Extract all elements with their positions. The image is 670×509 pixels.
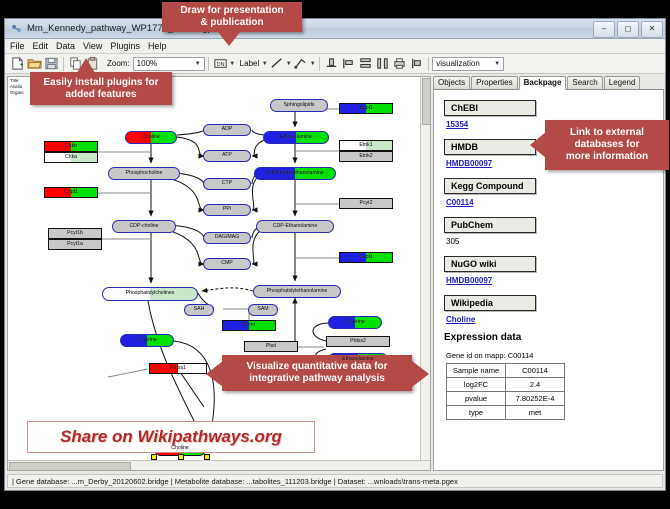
scroll-thumb[interactable] xyxy=(422,78,431,125)
metabolite-node-l-serine-left[interactable]: L-Serine xyxy=(120,334,174,347)
metabolite-node-sphingolipids[interactable]: Sphingolipids xyxy=(270,99,328,112)
gene-node-etnk1[interactable]: Etnk1 xyxy=(339,140,393,151)
datanode-dropdown-icon[interactable]: ▼ xyxy=(229,57,236,71)
gene-node-pcyt2[interactable]: Pcyt2 xyxy=(339,198,393,209)
table-row: pvalue 7.80252E-4 xyxy=(447,392,565,406)
stack-vertical-icon[interactable] xyxy=(358,56,373,71)
pathway-drawing[interactable]: Title: Availa Organi xyxy=(8,77,430,470)
metabolite-node-l-serine-right[interactable]: L-Serine xyxy=(328,316,382,329)
window-controls[interactable]: – ◻ ✕ xyxy=(593,21,663,38)
node-label: CDP-Ethanolamine xyxy=(273,224,317,229)
label-tool-text: Label xyxy=(240,59,260,68)
node-label: Sphingolipids xyxy=(284,103,315,108)
node-label: DAG/MAG xyxy=(215,235,240,240)
menu-bar[interactable]: File Edit Data View Plugins Help xyxy=(5,39,665,54)
visualize-callout-arrow-left xyxy=(206,361,223,387)
node-label: CDP-choline xyxy=(129,224,158,229)
status-bar: | Gene database: ...m_Derby_20120602.bri… xyxy=(7,474,663,488)
chevron-down-icon[interactable]: ▼ xyxy=(491,61,503,67)
gene-node-pcyt1a[interactable]: Pcyt1a xyxy=(48,239,102,250)
db-header-kegg: Kegg Compound xyxy=(444,178,536,194)
scroll-thumb[interactable] xyxy=(9,462,131,471)
node-label: CTP xyxy=(222,181,232,186)
node-label: PPi xyxy=(223,207,231,212)
node-label: Cept1 xyxy=(359,255,373,260)
gene-node-ptdss1[interactable]: Ptdss1 xyxy=(149,363,207,374)
node-label: Choline xyxy=(171,446,189,451)
node-label: L-Serine xyxy=(345,320,365,325)
db-value-pubchem: 305 xyxy=(446,237,663,246)
node-label: SAH xyxy=(194,307,205,312)
save-icon[interactable] xyxy=(44,56,59,71)
menu-item-edit[interactable]: Edit xyxy=(33,41,49,51)
print-icon[interactable] xyxy=(392,56,407,71)
table-row: log2FC 2.4 xyxy=(447,378,565,392)
table-row: type met xyxy=(447,406,565,420)
links-callout-stem xyxy=(544,138,550,152)
visualize-callout: Visualize quantitative data forintegrati… xyxy=(222,355,412,391)
expr-value-type: met xyxy=(506,406,565,420)
menu-item-file[interactable]: File xyxy=(10,41,25,51)
gene-node-etnk2[interactable]: Etnk2 xyxy=(339,151,393,162)
gene-node-pcyt1b[interactable]: Pcyt1b xyxy=(48,228,102,239)
share-banner-text: Share on Wikipathways.org xyxy=(60,427,282,447)
metabolite-node-ctp[interactable]: CTP xyxy=(203,178,251,190)
db-header-nugo: NuGO wiki xyxy=(444,256,536,272)
zoom-combo[interactable]: 100% ▼ xyxy=(133,57,205,71)
metabolite-node-ethanolamine[interactable]: Ethanolamine xyxy=(263,131,329,144)
expr-label-sample: Sample name xyxy=(447,364,506,378)
node-label: L-Serine xyxy=(137,338,157,343)
canvas-horizontal-scrollbar[interactable] xyxy=(8,460,430,470)
gene-node-pisd[interactable]: Pisd xyxy=(244,341,298,352)
expression-table: Sample name C00114 log2FC 2.4 pvalue 7.8… xyxy=(446,363,565,420)
node-label: Pcyt2 xyxy=(360,201,373,206)
tab-objects[interactable]: Objects xyxy=(433,76,470,89)
datanode-tool[interactable]: DN xyxy=(213,56,228,71)
line-dropdown-icon[interactable]: ▼ xyxy=(285,57,292,71)
screenshot-root: Mm_Kennedy_pathway_WP1771_45176.gpml – ◻… xyxy=(0,0,670,509)
expression-gene-id: Gene id on mapp: C00114 xyxy=(446,351,663,360)
db-header-hmdb: HMDB xyxy=(444,139,536,155)
menu-item-help[interactable]: Help xyxy=(148,41,167,51)
node-label: Chka xyxy=(65,155,77,160)
interaction-dropdown-icon[interactable]: ▼ xyxy=(309,57,316,71)
db-link-wikipedia[interactable]: Choline xyxy=(446,315,663,324)
chevron-down-icon[interactable]: ▼ xyxy=(192,61,204,67)
metabolite-node-phosphatidylcholines[interactable]: Phosphatidylcholines xyxy=(102,287,198,301)
tab-search[interactable]: Search xyxy=(567,76,602,89)
expr-label-pvalue: pvalue xyxy=(447,392,506,406)
metabolite-node-o-phosphoethanolamine[interactable]: O-Phosphoethanolamine xyxy=(254,167,336,180)
tab-properties[interactable]: Properties xyxy=(471,76,517,89)
metabolite-node-sah[interactable]: SAH xyxy=(184,304,214,316)
visualize-callout-text: Visualize quantitative data forintegrati… xyxy=(247,361,388,385)
db-header-pubchem: PubChem xyxy=(444,217,536,233)
metabolite-node-sam[interactable]: SAM xyxy=(248,304,278,316)
gene-node-ptdss2[interactable]: Ptdss2 xyxy=(326,336,390,347)
close-button[interactable]: ✕ xyxy=(641,21,663,38)
tool-bar[interactable]: Zoom: 100% ▼ DN ▼ Label ▼ ▼ ▼ xyxy=(5,54,665,74)
menu-item-plugins[interactable]: Plugins xyxy=(110,41,140,51)
status-text: | Gene database: ...m_Derby_20120602.bri… xyxy=(12,477,458,486)
visualization-value: visualization xyxy=(436,59,491,68)
expr-value-sample: C00114 xyxy=(506,364,565,378)
visualization-combo[interactable]: visualization ▼ xyxy=(432,57,504,71)
node-label: Ptdss1 xyxy=(170,366,186,371)
interaction-tool[interactable] xyxy=(293,56,308,71)
minimize-button[interactable]: – xyxy=(593,21,615,38)
metabolite-node-phosphatidylethanolamine[interactable]: Phosphatidylethanolamine xyxy=(253,285,341,298)
gene-node-chpt1[interactable]: Chpt1 xyxy=(44,187,98,198)
window-title-bar: Mm_Kennedy_pathway_WP1771_45176.gpml – ◻… xyxy=(5,19,665,39)
node-label: SAM xyxy=(257,307,268,312)
metabolite-node-dagmag[interactable]: DAG/MAG xyxy=(203,232,251,244)
pathvisio-icon xyxy=(10,22,23,35)
align-left-icon[interactable] xyxy=(341,56,356,71)
node-label: O-Phosphoethanolamine xyxy=(266,171,323,176)
metabolite-node-cdp-choline[interactable]: CDP-choline xyxy=(112,220,176,233)
metabolite-node-atp[interactable]: ATP xyxy=(203,150,251,162)
node-label: Pemt xyxy=(243,323,255,328)
distribute-icon[interactable] xyxy=(375,56,390,71)
tab-backpage[interactable]: Backpage xyxy=(519,76,567,90)
expr-value-log2fc: 2.4 xyxy=(506,378,565,392)
label-dropdown-icon[interactable]: ▼ xyxy=(261,57,268,71)
draw-callout-arrow xyxy=(218,32,240,46)
node-label: Chpt1 xyxy=(64,190,78,195)
line-tool[interactable] xyxy=(269,56,284,71)
draw-callout: Draw for presentation& publication xyxy=(162,2,302,32)
node-label: Phosphatidylcholines xyxy=(126,291,175,296)
expression-data-heading: Expression data xyxy=(444,332,663,343)
menu-item-data[interactable]: Data xyxy=(56,41,75,51)
align-top-icon[interactable] xyxy=(324,56,339,71)
group-icon[interactable] xyxy=(409,56,424,71)
expr-value-pvalue: 7.80252E-4 xyxy=(506,392,565,406)
links-callout-text: Link to externaldatabases formore inform… xyxy=(566,127,648,163)
draw-callout-text: Draw for presentation& publication xyxy=(180,5,283,29)
svg-text:DN: DN xyxy=(216,62,224,68)
metabolite-node-phosphocholine[interactable]: Phosphocholine xyxy=(108,167,180,180)
visualize-callout-arrow-right xyxy=(412,361,429,387)
db-header-chebi: ChEBI xyxy=(444,100,536,116)
node-label: Ethanolamine xyxy=(280,135,312,140)
node-label: Ptdss2 xyxy=(350,339,366,344)
db-link-kegg[interactable]: C00114 xyxy=(446,198,663,207)
open-folder-icon[interactable] xyxy=(27,56,42,71)
plugins-callout-stem xyxy=(82,64,90,74)
new-file-icon[interactable] xyxy=(10,56,25,71)
plugins-callout: Easily install plugins foradded features xyxy=(30,72,172,105)
metabolite-node-ppi[interactable]: PPi xyxy=(203,204,251,216)
db-header-wikipedia: Wikipedia xyxy=(444,295,536,311)
canvas-vertical-scrollbar[interactable] xyxy=(420,77,430,470)
gene-node-sgpl1[interactable]: Sgpl1 xyxy=(339,103,393,114)
expr-label-type: type xyxy=(447,406,506,420)
node-label: Etnk1 xyxy=(359,143,372,148)
node-label: CMP xyxy=(221,261,233,266)
node-label: Pcyt1b xyxy=(67,231,83,236)
metabolite-node-choline-top[interactable]: Choline xyxy=(125,131,177,144)
node-label: Phosphocholine xyxy=(126,171,163,176)
node-label: Pcyt1a xyxy=(67,242,83,247)
metabolite-node-adp[interactable]: ADP xyxy=(203,124,251,136)
db-link-nugo[interactable]: HMDB00097 xyxy=(446,276,663,285)
zoom-label: Zoom: xyxy=(107,59,130,68)
menu-item-view[interactable]: View xyxy=(83,41,102,51)
node-label: Sgpl1 xyxy=(359,106,372,111)
node-label: Choline xyxy=(142,135,160,140)
metabolite-node-cdp-ethanolamine[interactable]: CDP-Ethanolamine xyxy=(256,220,334,233)
node-label: Chkb xyxy=(65,144,77,149)
table-row: Sample name C00114 xyxy=(447,364,565,378)
tab-legend[interactable]: Legend xyxy=(604,76,641,89)
node-label: Etnk2 xyxy=(359,154,372,159)
node-label: ATP xyxy=(222,153,232,158)
expr-label-log2fc: log2FC xyxy=(447,378,506,392)
gene-node-pemt[interactable]: Pemt xyxy=(222,320,276,331)
links-callout: Link to externaldatabases formore inform… xyxy=(545,120,669,170)
node-label: Phosphatidylethanolamine xyxy=(267,289,328,294)
node-label: ADP xyxy=(222,127,233,132)
maximize-button[interactable]: ◻ xyxy=(617,21,639,38)
node-label: Pisd xyxy=(266,344,276,349)
gene-node-chkb[interactable]: Chkb xyxy=(44,141,98,152)
node-label: Ethanolamine xyxy=(342,357,374,362)
side-panel-tabs[interactable]: Objects Properties Backpage Search Legen… xyxy=(433,76,664,90)
metabolite-node-cmp[interactable]: CMP xyxy=(203,258,251,270)
gene-node-cept1[interactable]: Cept1 xyxy=(339,252,393,263)
pathway-canvas[interactable]: Title: Availa Organi xyxy=(7,76,431,471)
zoom-value: 100% xyxy=(137,59,192,68)
plugins-callout-text: Easily install plugins foradded features xyxy=(43,77,158,101)
gene-node-chka[interactable]: Chka xyxy=(44,152,98,163)
